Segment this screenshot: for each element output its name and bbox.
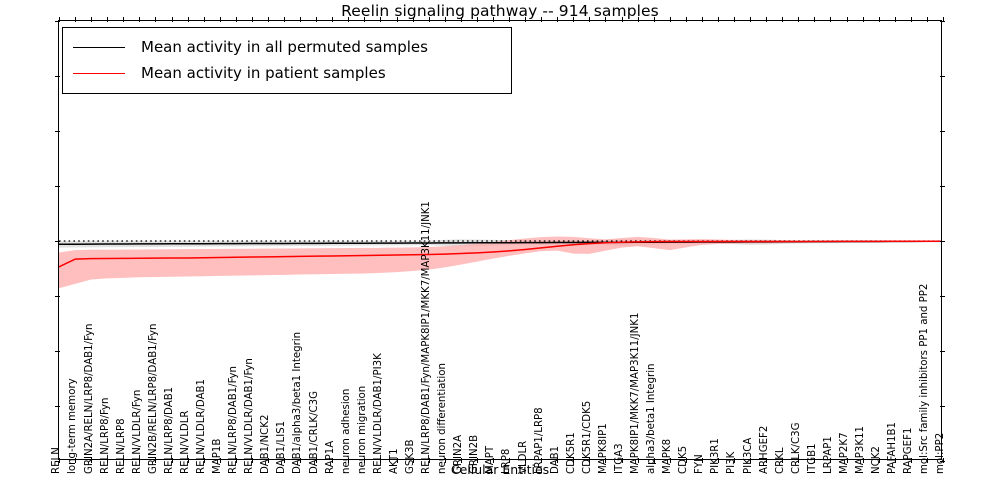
x-axis-tick-mark — [557, 17, 558, 22]
x-axis-tick-label: GRIN2B/RELN/LRP8/DAB1/Fyn — [148, 323, 159, 474]
x-axis-tick-label: CRLK/C3G — [791, 423, 802, 474]
x-axis-tick-mark — [461, 17, 462, 22]
x-axis-tick-mark — [59, 17, 60, 22]
chart-title: Reelin signaling pathway -- 914 samples — [0, 2, 1000, 20]
x-axis-tick-label: RAP1A — [325, 441, 336, 474]
x-axis-tick-label: RELN/VLDLR/Fyn — [132, 390, 143, 474]
x-axis-tick-mark — [155, 17, 156, 22]
y-axis-tick-mark — [55, 241, 60, 242]
x-axis-tick-mark — [316, 17, 317, 22]
x-axis-tick-label: CDK5R1/CDK5 — [582, 401, 593, 474]
x-axis-tick-label: RELN/LRP8/DAB1 — [164, 387, 175, 474]
x-axis-tick-mark — [172, 17, 173, 22]
x-axis-tick-mark — [139, 17, 140, 22]
x-axis-tick-mark — [252, 17, 253, 22]
x-axis-tick-mark — [75, 17, 76, 22]
x-axis-tick-label: MAPK8IP1/MKK7/MAP3K11/JNK1 — [630, 313, 641, 474]
x-axis-tick-mark — [686, 17, 687, 22]
y-axis-tick-mark — [940, 186, 945, 187]
x-axis-tick-mark — [766, 17, 767, 22]
x-axis-tick-label: DAB1/LIS1 — [276, 421, 287, 474]
legend-swatch-red-line — [73, 73, 125, 74]
x-axis-tick-label: GRIN2B — [469, 435, 480, 474]
x-axis-tick-mark — [895, 17, 896, 22]
x-axis-tick-mark — [123, 17, 124, 22]
x-axis-tick-mark — [734, 17, 735, 22]
y-axis-tick-mark — [940, 296, 945, 297]
x-axis-tick-label: ITGA3 — [614, 443, 625, 474]
x-axis-tick-mark — [798, 17, 799, 22]
chart-legend: Mean activity in all permuted samples Me… — [62, 27, 512, 94]
x-axis-tick-label: RELN/LRP8 — [116, 418, 127, 474]
x-axis-tick-mark — [284, 17, 285, 22]
x-axis-tick-label: RAPGEF1 — [903, 428, 914, 474]
y-axis-tick-mark — [940, 76, 945, 77]
y-axis-tick-mark — [55, 186, 60, 187]
x-axis-tick-mark — [332, 17, 333, 22]
x-axis-tick-mark — [814, 17, 815, 22]
x-axis-tick-label: RELN/VLDLR/DAB1 — [196, 379, 207, 474]
x-axis-tick-label: MAPK8 — [662, 439, 673, 474]
legend-label-permuted: Mean activity in all permuted samples — [141, 38, 428, 56]
x-axis-tick-mark — [300, 17, 301, 22]
x-axis-tick-mark — [525, 17, 526, 22]
x-axis-tick-mark — [509, 17, 510, 22]
x-axis-tick-label: mol:Src family inhibitors PP1 and PP2 — [919, 284, 930, 474]
x-axis-tick-mark — [91, 17, 92, 22]
x-axis-tick-label: GRIN2A/RELN/LRP8/DAB1/Fyn — [84, 324, 95, 474]
x-axis-tick-mark — [879, 17, 880, 22]
x-axis-tick-label: long-term memory — [67, 378, 78, 474]
x-axis-tick-mark — [107, 17, 108, 22]
x-axis-tick-label: DAB1 — [550, 446, 561, 474]
x-axis-tick-mark — [364, 17, 365, 22]
x-axis-tick-mark — [605, 17, 606, 22]
x-axis-tick-label: RELN/LRP8/DAB1/Fyn — [228, 366, 239, 474]
x-axis-tick-label: DAB1/CRLK/C3G — [309, 391, 320, 474]
x-axis-tick-label: LRPAP1/LRP8 — [534, 407, 545, 474]
x-axis-tick-mark — [493, 17, 494, 22]
x-axis-tick-mark — [589, 17, 590, 22]
x-axis-tick-label: CDK5 — [678, 446, 689, 474]
x-axis-tick-label: MAPT — [485, 446, 496, 474]
x-axis-tick-mark — [830, 17, 831, 22]
y-axis-tick-mark — [940, 406, 945, 407]
y-axis-tick-mark — [940, 351, 945, 352]
x-axis-tick-mark — [943, 17, 944, 22]
x-axis-tick-label: MAP3K11 — [855, 426, 866, 474]
x-axis-tick-mark — [718, 17, 719, 22]
x-axis-tick-label: DAB1/NCK2 — [260, 415, 271, 474]
x-axis-tick-label: neuron differentiation — [437, 363, 448, 474]
x-axis-tick-mark — [782, 17, 783, 22]
x-axis-tick-label: neuron adhesion — [341, 389, 352, 474]
x-axis-tick-label: PIK3R1 — [710, 438, 721, 474]
x-axis-tick-mark — [348, 17, 349, 22]
x-axis-tick-label: neuron migration — [357, 386, 368, 474]
x-axis-tick-mark — [670, 17, 671, 22]
x-axis-tick-label: LRPAP1 — [823, 436, 834, 474]
x-axis-tick-mark — [477, 17, 478, 22]
y-axis-tick-mark — [55, 76, 60, 77]
x-axis-tick-label: CDK5R1 — [566, 432, 577, 474]
x-axis-tick-mark — [220, 17, 221, 22]
x-axis-tick-label: PAFAH1B1 — [887, 422, 898, 474]
x-axis-tick-mark — [429, 17, 430, 22]
x-axis-tick-mark — [445, 17, 446, 22]
x-axis-tick-mark — [702, 17, 703, 22]
x-axis-tick-mark — [573, 17, 574, 22]
x-axis-tick-label: PIK3CA — [743, 438, 754, 474]
x-axis-tick-label: mol:PP2 — [935, 433, 946, 474]
x-axis-tick-label: RELN — [51, 447, 62, 474]
x-axis-tick-label: RELN/VLDLR/DAB1/PI3K — [373, 353, 384, 474]
x-axis-tick-mark — [204, 17, 205, 22]
x-axis-tick-label: RELN/LRP8/Fyn — [100, 398, 111, 474]
x-axis-tick-mark — [541, 17, 542, 22]
x-axis-tick-label: CRKL — [775, 447, 786, 474]
y-axis-tick-mark — [55, 406, 60, 407]
x-axis-tick-mark — [638, 17, 639, 22]
x-axis-tick-label: alpha3/beta1 Integrin — [646, 363, 657, 474]
x-axis-tick-label: FYN — [694, 454, 705, 474]
x-axis-tick-label: GRIN2A — [453, 435, 464, 474]
y-axis-tick-mark — [940, 241, 945, 242]
y-axis-tick-mark — [55, 296, 60, 297]
x-axis-tick-mark — [750, 17, 751, 22]
x-axis-tick-mark — [847, 17, 848, 22]
x-axis-tick-mark — [911, 17, 912, 22]
x-axis-tick-label: LRP8 — [501, 449, 512, 474]
x-axis-tick-mark — [397, 17, 398, 22]
x-axis-tick-label: MAP2K7 — [839, 432, 850, 474]
legend-swatch-black-line — [73, 47, 125, 48]
x-axis-tick-label: VLDLR — [518, 441, 529, 474]
x-axis-tick-label: DAB1/alpha3/beta1 Integrin — [292, 332, 303, 474]
x-axis-tick-label: RELN/VLDLR/DAB1/Fyn — [244, 358, 255, 474]
x-axis-tick-mark — [380, 17, 381, 22]
y-axis-tick-mark — [55, 351, 60, 352]
x-axis-tick-mark — [927, 17, 928, 22]
x-axis-tick-mark — [654, 17, 655, 22]
x-axis-tick-mark — [622, 17, 623, 22]
x-axis-tick-label: RELN/VLDLR — [180, 411, 191, 475]
x-axis-tick-mark — [863, 17, 864, 22]
y-axis-tick-mark — [55, 131, 60, 132]
x-axis-tick-mark — [188, 17, 189, 22]
legend-entry-permuted: Mean activity in all permuted samples — [73, 34, 499, 60]
x-axis-tick-mark — [413, 17, 414, 22]
x-axis-tick-label: PI3K — [726, 452, 737, 474]
x-axis-tick-mark — [236, 17, 237, 22]
legend-label-patient: Mean activity in patient samples — [141, 64, 386, 82]
x-axis-tick-label: AKT1 — [389, 448, 400, 474]
legend-entry-patient: Mean activity in patient samples — [73, 60, 499, 86]
x-axis-tick-label: ARHGEF2 — [759, 426, 770, 474]
x-axis-tick-label: RELN/LRP8/DAB1/Fyn/MAPK8IP1/MKK7/MAP3K11… — [421, 201, 432, 474]
x-axis-tick-label: NCK2 — [871, 446, 882, 474]
x-axis-tick-mark — [268, 17, 269, 22]
figure: Reelin signaling pathway -- 914 samples … — [0, 0, 1000, 500]
y-axis-tick-mark — [940, 131, 945, 132]
x-axis-tick-label: ITGB1 — [807, 443, 818, 474]
x-axis-tick-label: GSK3B — [405, 439, 416, 474]
x-axis-tick-label: MAP1B — [212, 439, 223, 474]
x-axis-tick-label: MAPK8IP1 — [598, 423, 609, 474]
